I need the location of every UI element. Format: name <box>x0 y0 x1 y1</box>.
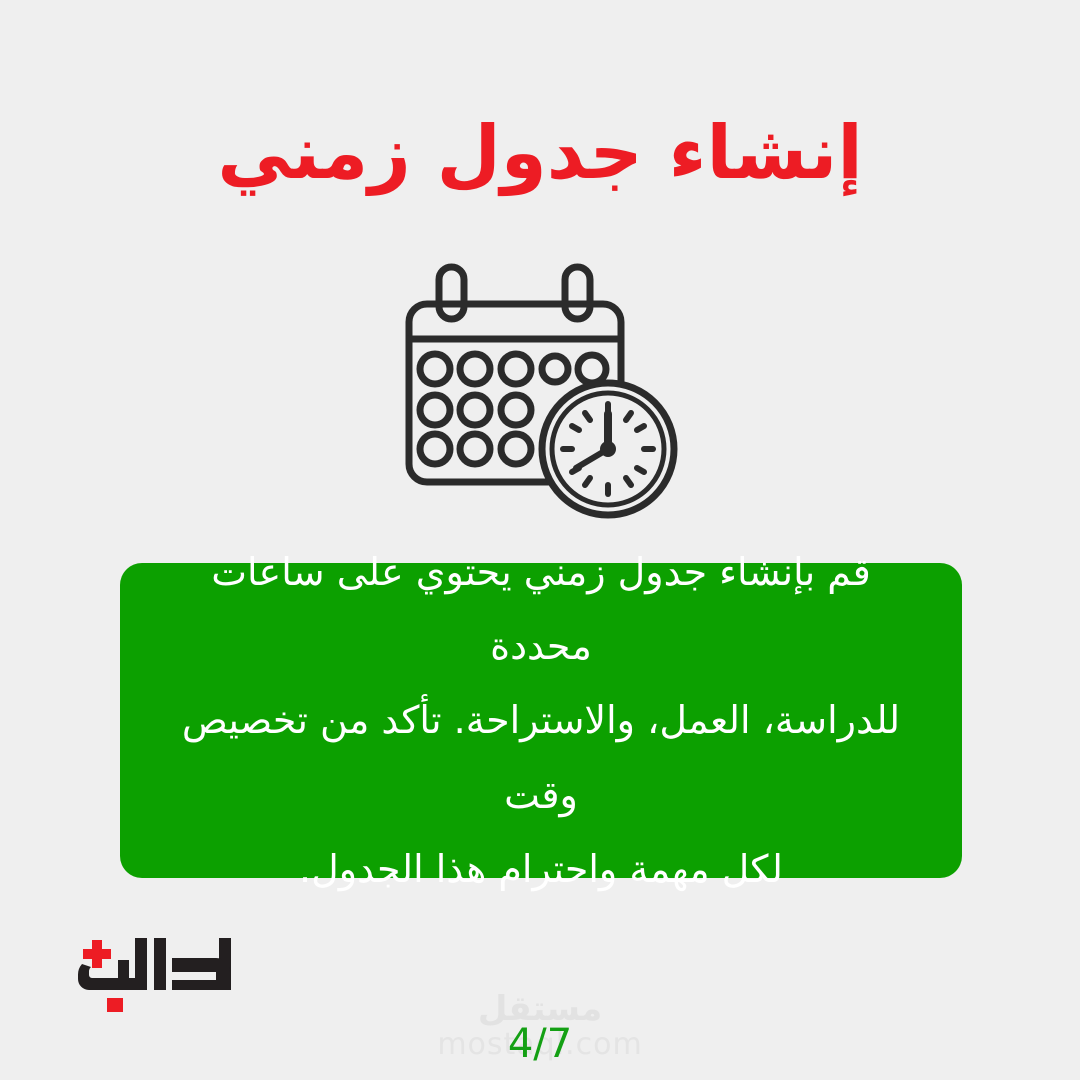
logo-stroke-alef <box>154 938 166 990</box>
brand-logo-svg <box>76 928 256 1012</box>
calendar-dot <box>542 356 568 382</box>
calendar-dot <box>501 434 531 464</box>
clock-center-pin <box>600 441 616 457</box>
calendar-dot <box>420 395 450 425</box>
calendar-dot <box>460 354 490 384</box>
calendar-dot <box>420 434 450 464</box>
page-indicator: 4/7 <box>508 1024 572 1064</box>
calendar-ring-right <box>565 267 590 319</box>
plus-icon-horizontal <box>83 949 111 959</box>
page-title: إنشاء جدول زمني <box>0 112 1080 195</box>
calendar-dot <box>460 434 490 464</box>
calendar-dot <box>501 354 531 384</box>
calendar-clock-svg <box>380 252 700 544</box>
card-body-text: قم بإنشاء جدول زمني يحتوي على ساعات محدد… <box>156 535 926 905</box>
logo-counter <box>172 972 216 980</box>
calendar-dot <box>460 395 490 425</box>
logo-stroke-nub <box>118 960 129 980</box>
calendar-dot <box>578 355 606 383</box>
calendar-dot <box>420 354 450 384</box>
content-card: قم بإنشاء جدول زمني يحتوي على ساعات محدد… <box>120 563 962 878</box>
calendar-dot <box>501 395 531 425</box>
slide-root: إنشاء جدول زمني <box>0 0 1080 1080</box>
brand-logo <box>76 928 256 1012</box>
calendar-ring-left <box>439 267 464 319</box>
square-dot-icon <box>107 998 123 1012</box>
calendar-clock-icon <box>380 252 700 544</box>
